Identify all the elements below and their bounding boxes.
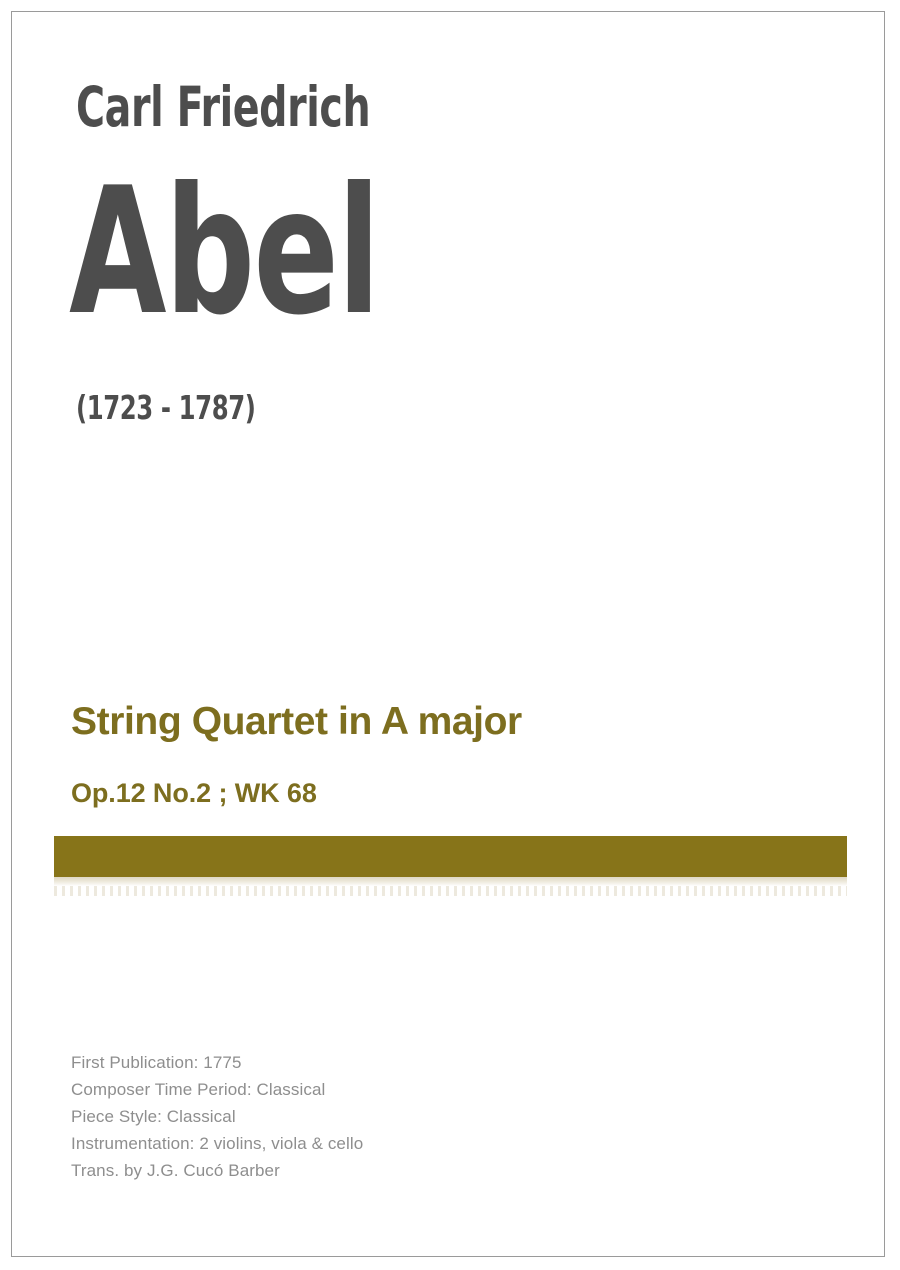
metadata-line-first-publication: First Publication: 1775 xyxy=(71,1049,671,1076)
rule-bar-shadow xyxy=(54,877,847,886)
rule-bar-texture xyxy=(54,886,847,896)
metadata-line-composer-time-period: Composer Time Period: Classical xyxy=(71,1076,671,1103)
olive-rule-bar xyxy=(54,836,847,877)
metadata-block: First Publication: 1775 Composer Time Pe… xyxy=(71,1049,671,1184)
work-title: String Quartet in A major xyxy=(71,698,522,746)
metadata-line-piece-style: Piece Style: Classical xyxy=(71,1103,671,1130)
composer-life-dates: (1723 - 1787) xyxy=(76,389,255,427)
composer-surname: Abel xyxy=(69,160,379,345)
metadata-line-instrumentation: Instrumentation: 2 violins, viola & cell… xyxy=(71,1130,671,1157)
composer-first-names: Carl Friedrich xyxy=(76,78,370,136)
title-page: Carl Friedrich Abel (1723 - 1787) String… xyxy=(0,0,900,1270)
metadata-line-transcriber: Trans. by J.G. Cucó Barber xyxy=(71,1157,671,1184)
work-subtitle-opus: Op.12 No.2 ; WK 68 xyxy=(71,776,317,810)
